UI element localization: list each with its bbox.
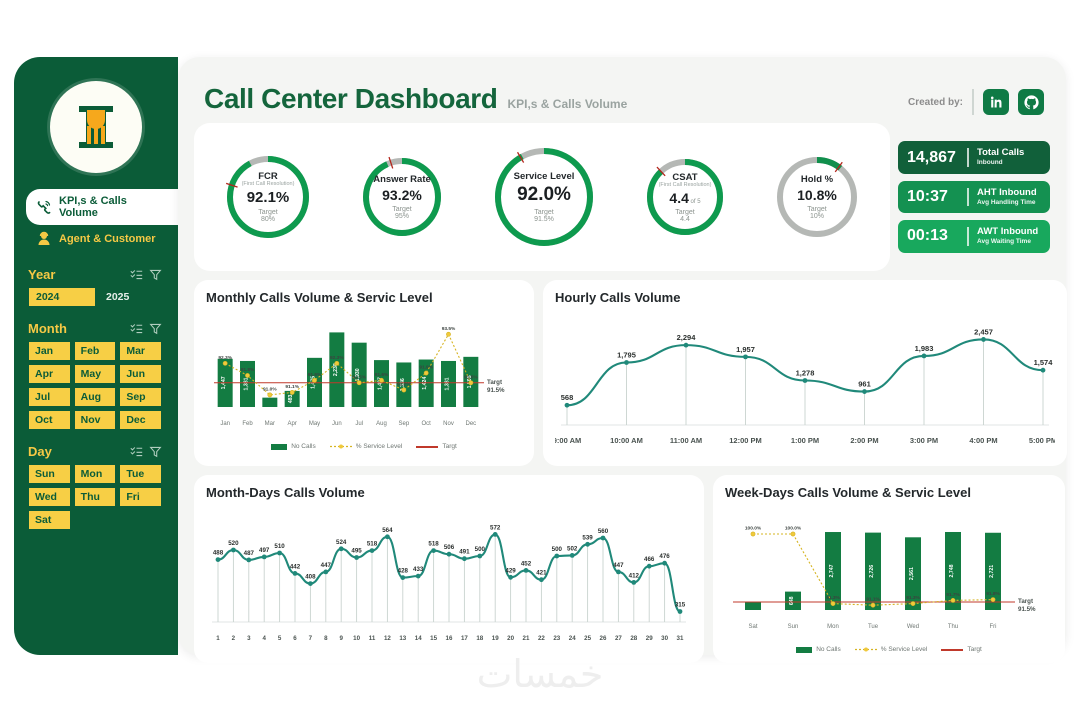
svg-text:539: 539 — [582, 534, 593, 541]
svg-text:8: 8 — [324, 635, 328, 642]
svg-text:3:00 PM: 3:00 PM — [910, 436, 938, 445]
stat-label: AWT InboundAvg Waiting Time — [977, 227, 1038, 245]
svg-text:4:00 PM: 4:00 PM — [969, 436, 997, 445]
month-days-chart: 4881520248734974510544264087447852494951… — [206, 500, 692, 653]
linkedin-icon[interactable] — [983, 89, 1009, 115]
svg-text:Aug: Aug — [376, 421, 387, 427]
svg-text:17: 17 — [461, 635, 468, 642]
watermark: خمسات — [0, 652, 1080, 696]
filter-option-month-jun[interactable]: Jun — [119, 364, 162, 384]
svg-text:18: 18 — [476, 635, 483, 642]
svg-text:Apr: Apr — [287, 421, 296, 427]
svg-text:466: 466 — [644, 556, 655, 563]
filter-option-year-2024[interactable]: 2024 — [28, 287, 96, 307]
svg-text:91.1%: 91.1% — [866, 597, 880, 603]
kpi-strip: FCR(First Call Resolution)92.1%Target80%… — [194, 123, 1050, 271]
logo-container — [14, 81, 178, 173]
legend-label: No Calls — [291, 443, 316, 450]
filter-title-year: Year — [28, 267, 55, 282]
page-subtitle: KPI,s & Calls Volume — [507, 97, 627, 111]
filter-option-year-2025[interactable]: 2025 — [106, 291, 129, 303]
svg-text:506: 506 — [444, 544, 455, 551]
kpi-target-value: 80% — [261, 216, 275, 223]
kpi-sub: (First Call Resolution) — [659, 182, 712, 188]
svg-text:6: 6 — [293, 635, 297, 642]
filter-day-options: SunMonTueWedThuFriSat — [28, 464, 162, 530]
svg-text:476: 476 — [659, 553, 670, 560]
filter-year-options: 2024 2025 — [28, 287, 162, 307]
legend-item-service-level: % Service Level — [330, 443, 403, 450]
svg-text:7: 7 — [309, 635, 313, 642]
svg-text:Targt: Targt — [487, 379, 502, 386]
svg-text:483: 483 — [288, 395, 294, 404]
charts-row-2: Month-Days Calls Volume 4881520248734974… — [194, 475, 1050, 663]
kpi-gauge-hold: Hold %10.8%Target10% — [774, 154, 860, 240]
kpi-name: Answer Rate — [373, 174, 431, 185]
svg-text:1,278: 1,278 — [796, 369, 815, 378]
hourly-calls-card: Hourly Calls Volume 5689:00 AM1,79510:00… — [543, 280, 1067, 466]
svg-text:10: 10 — [353, 635, 360, 642]
filter-option-month-mar[interactable]: Mar — [119, 341, 162, 361]
legend-swatch-bar — [271, 444, 287, 450]
svg-text:1,957: 1,957 — [736, 345, 755, 354]
svg-text:100.0%: 100.0% — [745, 526, 762, 532]
sidebar-item-kpis-calls-volume[interactable]: KPI,s & Calls Volume — [26, 189, 178, 225]
hourly-calls-title: Hourly Calls Volume — [555, 290, 1055, 305]
svg-text:2: 2 — [232, 635, 236, 642]
svg-text:9:00 AM: 9:00 AM — [555, 436, 581, 445]
kpi-target-label: Target — [392, 206, 411, 213]
svg-text:315: 315 — [675, 602, 686, 609]
svg-text:497: 497 — [259, 547, 270, 554]
kpi-name: Hold % — [801, 174, 833, 185]
svg-text:5: 5 — [278, 635, 282, 642]
kpi-value: 93.2% — [382, 187, 422, 203]
svg-text:Jun: Jun — [332, 421, 342, 427]
stat-card: 14,867 Total CallsInbound — [898, 141, 1050, 173]
stat-divider — [967, 227, 969, 245]
sidebar: KPI,s & Calls Volume Agent & Customer Ye… — [14, 57, 178, 655]
svg-text:27: 27 — [615, 635, 622, 642]
filter-title-month: Month — [28, 321, 67, 336]
stat-card: 00:13 AWT InboundAvg Waiting Time — [898, 220, 1050, 252]
svg-text:91.5%: 91.5% — [352, 374, 366, 380]
svg-text:Sun: Sun — [788, 624, 799, 630]
stat-number: 14,867 — [907, 149, 959, 167]
kpi-gauge-service-level: Service Level92.0%Target91.5% — [492, 145, 596, 249]
chart-legend: No Calls % Service Level Targt — [206, 443, 522, 450]
filter-option-month-apr[interactable]: Apr — [28, 364, 71, 384]
kpi-value: 10.8% — [797, 187, 837, 203]
week-days-title: Week-Days Calls Volume & Servic Level — [725, 485, 1053, 500]
sidebar-item-agent-customer[interactable]: Agent & Customer — [26, 225, 178, 253]
svg-text:500: 500 — [552, 546, 563, 553]
svg-text:91.8%: 91.8% — [241, 367, 255, 373]
kpi-target-label: Target — [675, 209, 694, 216]
svg-text:91.5%: 91.5% — [487, 387, 505, 394]
svg-text:20: 20 — [507, 635, 514, 642]
filter-option-month-may[interactable]: May — [74, 364, 117, 384]
svg-text:91.2%: 91.2% — [397, 382, 411, 388]
kpi-name: Service Level — [514, 171, 575, 182]
svg-text:12: 12 — [384, 635, 391, 642]
kpi-unit: of 5 — [689, 199, 701, 205]
filter-option-month-aug[interactable]: Aug — [74, 387, 117, 407]
svg-text:30: 30 — [661, 635, 668, 642]
svg-text:16: 16 — [446, 635, 453, 642]
svg-text:91.6%: 91.6% — [308, 372, 322, 378]
svg-text:Mon: Mon — [827, 624, 839, 630]
svg-text:Jan: Jan — [220, 421, 230, 427]
kpi-target-label: Target — [534, 209, 553, 216]
svg-text:564: 564 — [382, 527, 393, 534]
legend-label: Targt — [442, 443, 456, 450]
filter-option-day-thu[interactable]: Thu — [74, 487, 117, 507]
title-group: Call Center Dashboard KPI,s & Calls Volu… — [194, 83, 627, 115]
kpi-gauges-card: FCR(First Call Resolution)92.1%Target80%… — [194, 123, 890, 271]
kpi-value: 92.0% — [517, 184, 571, 206]
svg-text:452: 452 — [521, 560, 532, 567]
svg-text:2,561: 2,561 — [909, 567, 915, 580]
svg-text:Wed: Wed — [907, 624, 919, 630]
svg-text:15: 15 — [430, 635, 437, 642]
svg-text:2:00 PM: 2:00 PM — [850, 436, 878, 445]
svg-text:961: 961 — [858, 380, 871, 389]
svg-text:91.7%: 91.7% — [946, 592, 960, 598]
week-days-title-tail: & Servic Level — [882, 485, 971, 500]
legend-swatch-line — [941, 649, 963, 651]
filter-month-options: JanFebMarAprMayJunJulAugSepOctNovDec — [28, 341, 162, 430]
multi-select-icon[interactable] — [130, 268, 143, 281]
svg-text:572: 572 — [490, 524, 501, 531]
svg-text:428: 428 — [398, 568, 409, 575]
filter-option-month-sep[interactable]: Sep — [119, 387, 162, 407]
svg-text:442: 442 — [290, 563, 301, 570]
svg-text:91.3%: 91.3% — [906, 595, 920, 601]
svg-text:Mar: Mar — [265, 421, 275, 427]
svg-text:2,748: 2,748 — [949, 564, 955, 577]
kpi-target-label: Target — [807, 206, 826, 213]
page-title: Call Center Dashboard — [204, 83, 497, 115]
svg-text:495: 495 — [351, 548, 362, 555]
svg-text:1:00 PM: 1:00 PM — [791, 436, 819, 445]
created-by-label: Created by: — [908, 97, 963, 108]
logo-icon — [65, 96, 127, 158]
svg-text:24: 24 — [569, 635, 576, 642]
svg-text:11:00 AM: 11:00 AM — [670, 436, 702, 445]
legend-item-target: Targt — [416, 443, 456, 450]
svg-text:Thu: Thu — [948, 624, 958, 630]
svg-text:Sep: Sep — [398, 421, 409, 427]
kpi-target-value: 91.5% — [534, 216, 554, 223]
stat-number: 00:13 — [907, 227, 959, 245]
legend-item-no-calls: No Calls — [271, 443, 316, 450]
monthly-calls-card: Monthly Calls Volume & Servic Level 1,44… — [194, 280, 534, 466]
kpi-target-value: 4.4 — [680, 216, 690, 223]
stat-sublabel: Avg Waiting Time — [977, 238, 1038, 245]
phone-signal-icon — [36, 199, 52, 215]
clear-filter-icon[interactable] — [149, 322, 162, 335]
kpi-value: 4.4 of 5 — [669, 190, 700, 206]
kpi-target-label: Target — [258, 209, 277, 216]
svg-text:648: 648 — [789, 596, 795, 605]
svg-text:429: 429 — [505, 567, 516, 574]
monthly-calls-title: Monthly Calls Volume & Servic Level — [206, 290, 522, 305]
svg-text:92.3%: 92.3% — [218, 355, 232, 361]
filter-option-day-sun[interactable]: Sun — [28, 464, 71, 484]
filter-title-day: Day — [28, 444, 52, 459]
filter-option-day-wed[interactable]: Wed — [28, 487, 71, 507]
svg-text:91.5%: 91.5% — [464, 374, 478, 380]
kpi-sub: (First Call Resolution) — [242, 181, 295, 187]
svg-text:4: 4 — [262, 635, 266, 642]
kpi-target-value: 95% — [395, 213, 409, 220]
svg-text:1: 1 — [216, 635, 220, 642]
svg-text:408: 408 — [305, 574, 316, 581]
svg-text:1,381: 1,381 — [445, 377, 451, 390]
filter-option-month-oct[interactable]: Oct — [28, 410, 71, 430]
credit-group: Created by: — [908, 89, 1050, 115]
svg-text:491: 491 — [459, 549, 470, 556]
svg-text:412: 412 — [629, 572, 640, 579]
filter-header-month: Month — [28, 321, 162, 336]
legend-swatch-dotted — [330, 443, 352, 450]
dashboard-root: KPI,s & Calls Volume Agent & Customer Ye… — [0, 0, 1080, 710]
filter-tools-day — [130, 445, 162, 458]
filter-header-day: Day — [28, 444, 162, 459]
multi-select-icon[interactable] — [130, 445, 143, 458]
svg-text:502: 502 — [567, 545, 578, 552]
week-days-chart: Sat648Sun2,747Mon2,726Tue2,561Wed2,748Th… — [725, 500, 1053, 653]
svg-text:26: 26 — [600, 635, 607, 642]
svg-text:1,574: 1,574 — [1034, 358, 1054, 367]
main-panel: Call Center Dashboard KPI,s & Calls Volu… — [178, 57, 1066, 655]
svg-text:524: 524 — [336, 539, 347, 546]
stat-sublabel: Avg Handling Time — [977, 199, 1037, 206]
svg-text:21: 21 — [523, 635, 530, 642]
hourly-calls-chart: 5689:00 AM1,79510:00 AM2,29411:00 AM1,95… — [555, 305, 1055, 456]
svg-text:Fri: Fri — [990, 624, 997, 630]
filter-tools-month — [130, 322, 162, 335]
svg-text:100.0%: 100.0% — [785, 526, 802, 532]
svg-text:23: 23 — [553, 635, 560, 642]
sidebar-nav: KPI,s & Calls Volume Agent & Customer — [14, 189, 178, 253]
filter-option-day-sat[interactable]: Sat — [28, 510, 71, 530]
svg-text:510: 510 — [274, 543, 285, 550]
svg-text:13: 13 — [399, 635, 406, 642]
svg-text:91.1%: 91.1% — [285, 384, 299, 390]
svg-text:92.3%: 92.3% — [330, 355, 344, 361]
svg-text:520: 520 — [228, 540, 239, 547]
svg-text:568: 568 — [561, 393, 574, 402]
svg-text:Feb: Feb — [242, 421, 253, 427]
clear-filter-icon[interactable] — [149, 268, 162, 281]
svg-text:433: 433 — [413, 566, 424, 573]
stat-label: Total CallsInbound — [977, 148, 1024, 166]
filter-header-year: Year — [28, 267, 162, 282]
agent-person-icon — [36, 231, 52, 247]
stat-divider — [967, 188, 969, 206]
header-bar: Call Center Dashboard KPI,s & Calls Volu… — [194, 71, 1050, 115]
filter-option-month-dec[interactable]: Dec — [119, 410, 162, 430]
month-days-card: Month-Days Calls Volume 4881520248734974… — [194, 475, 704, 663]
svg-text:500: 500 — [475, 546, 486, 553]
svg-text:19: 19 — [492, 635, 499, 642]
svg-text:25: 25 — [584, 635, 591, 642]
kpi-gauge-csat: CSAT(First Call Resolution)4.4 of 5Targe… — [644, 156, 726, 238]
svg-text:12:00 PM: 12:00 PM — [729, 436, 762, 445]
svg-text:91.5%: 91.5% — [1018, 606, 1036, 613]
legend-label: % Service Level — [356, 443, 403, 450]
svg-text:91.0%: 91.0% — [263, 386, 277, 392]
multi-select-icon[interactable] — [130, 322, 143, 335]
filter-option-month-feb[interactable]: Feb — [74, 341, 117, 361]
github-icon[interactable] — [1018, 89, 1044, 115]
svg-text:91.6%: 91.6% — [375, 372, 389, 378]
sidebar-item-label: KPI,s & Calls Volume — [59, 195, 168, 219]
svg-text:1,983: 1,983 — [915, 344, 934, 353]
svg-text:91.8%: 91.8% — [986, 591, 1000, 597]
legend-swatch-line — [416, 446, 438, 448]
svg-text:2,726: 2,726 — [869, 565, 875, 578]
filter-option-day-fri[interactable]: Fri — [119, 487, 162, 507]
credit-divider — [972, 89, 974, 115]
svg-text:29: 29 — [646, 635, 653, 642]
filter-option-day-tue[interactable]: Tue — [119, 464, 162, 484]
svg-text:2,457: 2,457 — [974, 327, 993, 336]
svg-text:31: 31 — [677, 635, 684, 642]
svg-text:5:00 PM: 5:00 PM — [1029, 436, 1055, 445]
summary-stats: 14,867 Total CallsInbound10:37 AHT Inbou… — [898, 123, 1050, 271]
stat-divider — [967, 148, 969, 166]
filter-option-month-jan[interactable]: Jan — [28, 341, 71, 361]
svg-text:Jul: Jul — [355, 421, 363, 427]
svg-text:518: 518 — [428, 541, 439, 548]
stat-sublabel: Inbound — [977, 159, 1024, 166]
filter-option-month-jul[interactable]: Jul — [28, 387, 71, 407]
svg-text:May: May — [309, 421, 320, 427]
kpi-value: 92.1% — [247, 189, 290, 206]
svg-text:1,381: 1,381 — [244, 377, 250, 390]
svg-text:1,795: 1,795 — [617, 351, 636, 360]
stat-number: 10:37 — [907, 188, 959, 206]
svg-text:Sat: Sat — [748, 624, 757, 630]
monthly-calls-chart: 1,447Jan1,381FebMar483Apr1,475May2,238Ju… — [206, 305, 522, 450]
svg-text:518: 518 — [367, 541, 378, 548]
stat-card: 10:37 AHT InboundAvg Handling Time — [898, 181, 1050, 213]
svg-text:10:00 AM: 10:00 AM — [610, 436, 643, 445]
svg-text:3: 3 — [247, 635, 251, 642]
svg-text:28: 28 — [630, 635, 637, 642]
svg-text:488: 488 — [213, 550, 224, 557]
svg-text:2,721: 2,721 — [989, 565, 995, 578]
filter-tools-year — [130, 268, 162, 281]
svg-text:14: 14 — [415, 635, 422, 642]
svg-text:91.3%: 91.3% — [826, 595, 840, 601]
month-days-title: Month-Days Calls Volume — [206, 485, 692, 500]
svg-text:Targt: Targt — [1018, 598, 1033, 605]
svg-text:Nov: Nov — [443, 421, 454, 427]
filter-option-month-nov[interactable]: Nov — [74, 410, 117, 430]
week-days-title-main: Week-Days Calls Volume — [725, 485, 878, 500]
sidebar-item-label: Agent & Customer — [59, 233, 156, 245]
svg-text:Oct: Oct — [421, 421, 431, 427]
svg-text:2,747: 2,747 — [829, 564, 835, 577]
kpi-gauge-fcr: FCR(First Call Resolution)92.1%Target80% — [224, 153, 312, 241]
svg-text:421: 421 — [536, 570, 547, 577]
svg-text:11: 11 — [369, 635, 376, 642]
clear-filter-icon[interactable] — [149, 445, 162, 458]
svg-text:93.5%: 93.5% — [442, 326, 456, 332]
svg-text:Tue: Tue — [868, 624, 879, 630]
svg-text:Dec: Dec — [465, 421, 476, 427]
svg-text:2,294: 2,294 — [677, 333, 697, 342]
svg-text:560: 560 — [598, 528, 609, 535]
week-days-card: Week-Days Calls Volume & Servic Level Sa… — [713, 475, 1065, 663]
filter-option-day-mon[interactable]: Mon — [74, 464, 117, 484]
kpi-gauge-answer-rate: Answer Rate93.2%Target95% — [360, 155, 444, 239]
svg-text:447: 447 — [613, 562, 624, 569]
svg-text:9: 9 — [339, 635, 343, 642]
stat-label: AHT InboundAvg Handling Time — [977, 188, 1037, 206]
svg-text:487: 487 — [244, 550, 255, 557]
svg-text:22: 22 — [538, 635, 545, 642]
svg-text:91.9%: 91.9% — [419, 365, 433, 371]
kpi-target-value: 10% — [810, 213, 824, 220]
charts-row-1: Monthly Calls Volume & Servic Level 1,44… — [194, 280, 1050, 466]
call-center-logo — [50, 81, 142, 173]
svg-text:447: 447 — [321, 562, 332, 569]
